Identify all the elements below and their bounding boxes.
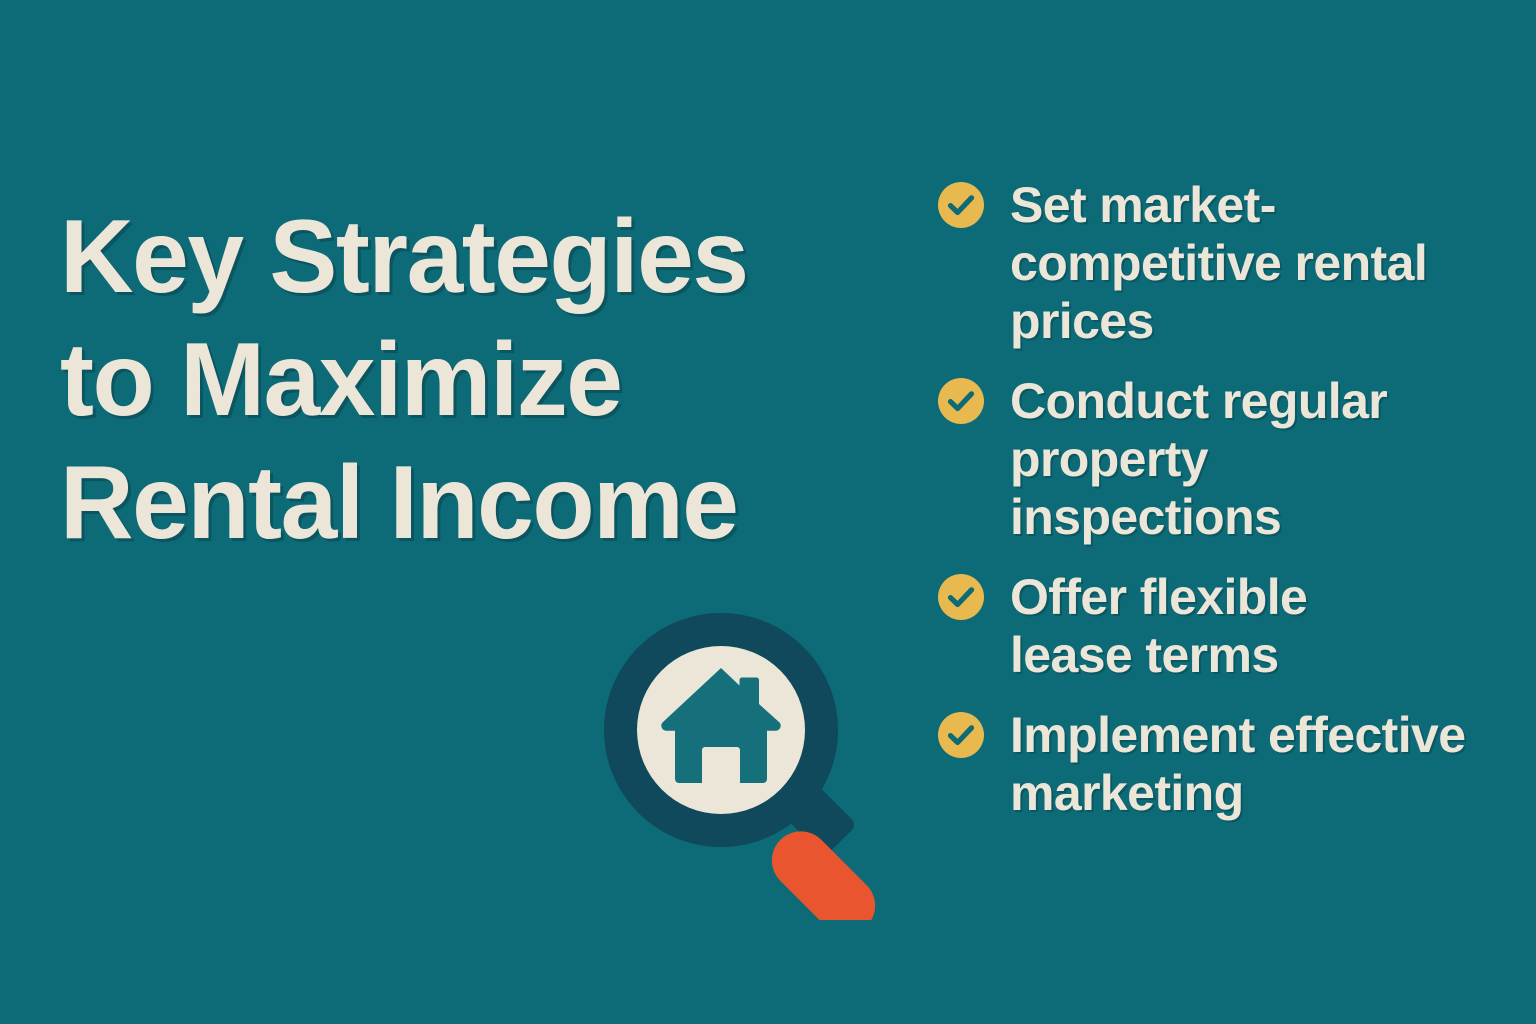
check-circle-icon <box>938 712 984 758</box>
list-item: Offer flexible lease terms <box>938 568 1536 684</box>
check-circle-icon <box>938 574 984 620</box>
list-item-label: Conduct regular property inspections <box>1010 372 1387 546</box>
check-circle-icon <box>938 182 984 228</box>
title-line-2: to Maximize <box>60 319 834 442</box>
title-line-1: Key Strategies <box>60 196 834 319</box>
check-circle-icon <box>938 378 984 424</box>
list-item-label: Set market- competitive rental prices <box>1010 176 1427 350</box>
title-line-3: Rental Income <box>60 442 834 565</box>
list-item: Set market- competitive rental prices <box>938 176 1536 350</box>
list-item-label: Implement effective marketing <box>1010 706 1465 822</box>
strategy-list: Set market- competitive rental prices Co… <box>938 176 1536 822</box>
list-item-label: Offer flexible lease terms <box>1010 568 1307 684</box>
magnifying-glass-house-icon <box>592 600 922 920</box>
infographic-slide: Key Strategies to Maximize Rental Income… <box>0 0 1536 1024</box>
list-item: Implement effective marketing <box>938 706 1536 822</box>
list-item: Conduct regular property inspections <box>938 372 1536 546</box>
page-title: Key Strategies to Maximize Rental Income <box>60 196 850 565</box>
